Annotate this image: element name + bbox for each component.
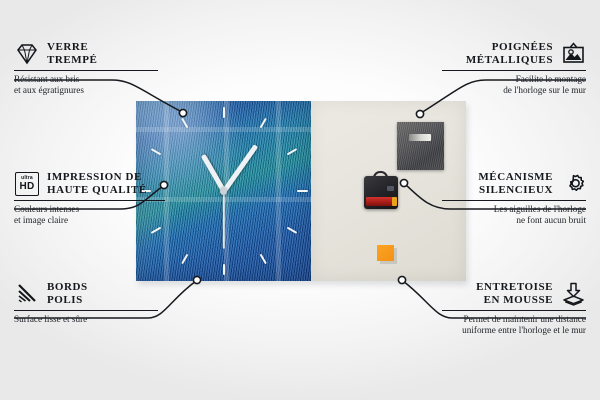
callout-header: ENTRETOISE EN MOUSSE [442,281,586,307]
callout-subtitle-line2: et image claire [14,215,165,226]
callout-title: ENTRETOISE EN MOUSSE [476,281,553,307]
foam-spacer [377,245,394,261]
callout-mecanisme-silencieux: MÉCANISME SILENCIEUX Les aiguilles de l'… [442,171,586,226]
grid-line [136,127,311,132]
foam-spacer-arrow-icon [560,281,586,307]
mechanism-body [364,176,398,209]
callout-divider [442,310,586,311]
clock-tick [223,107,225,118]
battery [366,197,393,206]
callout-poignees-metalliques: POIGNÉES MÉTALLIQUES Facilite le montage… [442,41,586,96]
callout-title: POIGNÉES MÉTALLIQUES [466,41,553,67]
callout-subtitle-line1: Permet de maintenir une distance [442,314,586,325]
callout-divider [442,70,586,71]
ultra-hd-icon: ultra HD [14,171,40,197]
callout-divider [14,200,165,201]
callout-title: MÉCANISME SILENCIEUX [478,171,553,197]
mechanism-detail [387,186,394,191]
callout-divider [14,310,158,311]
clock-tick [297,190,308,192]
clock-tick [181,254,188,265]
callout-impression-haute-qualite: ultra HD IMPRESSION DE HAUTE QUALITÉ Cou… [14,171,165,226]
clock-tick [286,148,297,155]
callout-entretoise-en-mousse: ENTRETOISE EN MOUSSE Permet de maintenir… [442,281,586,336]
callout-subtitle-line1: Facilite le montage [442,74,586,85]
clock-center-cap [220,188,227,195]
callout-bords-polis: BORDS POLIS Surface lisse et sûre [14,281,158,325]
clock-tick [259,254,266,265]
callout-subtitle-line2: de l'horloge sur le mur [442,85,586,96]
callout-divider [14,70,158,71]
ultra-hd-main-text: HD [19,182,34,192]
callout-subtitle-line1: Résistant aux bris [14,74,158,85]
clock-second-hand [223,191,225,249]
callout-subtitle-line1: Couleurs intenses [14,204,165,215]
picture-frame-hanger-icon [560,41,586,67]
product-image-group [136,101,466,281]
diamond-icon [14,41,40,67]
callout-title: IMPRESSION DE HAUTE QUALITÉ [47,171,147,197]
callout-subtitle-line2: uniforme entre l'horloge et le mur [442,325,586,336]
clock-tick [223,264,225,275]
metal-hanger-plate [397,122,444,170]
callout-header: BORDS POLIS [14,281,158,307]
clock-tick [150,227,161,234]
hanger-slot [409,134,431,141]
callout-header: VERRE TREMPÉ [14,41,158,67]
infographic-stage: VERRE TREMPÉ Résistant aux bris et aux é… [0,0,600,400]
callout-subtitle-line1: Surface lisse et sûre [14,314,158,325]
callout-subtitle-line2: ne font aucun bruit [442,215,586,226]
callout-header: POIGNÉES MÉTALLIQUES [442,41,586,67]
battery-terminal [392,197,397,206]
callout-subtitle-line1: Les aiguilles de l'horloge [442,204,586,215]
callout-subtitle-line2: et aux égratignures [14,85,158,96]
callout-header: MÉCANISME SILENCIEUX [442,171,586,197]
gear-icon [560,171,586,197]
callout-header: ultra HD IMPRESSION DE HAUTE QUALITÉ [14,171,165,197]
callout-title: BORDS POLIS [47,281,88,307]
clock-tick [286,227,297,234]
diagonal-lines-icon [14,281,40,307]
callout-divider [442,200,586,201]
callout-verre-trempe: VERRE TREMPÉ Résistant aux bris et aux é… [14,41,158,96]
quartz-mechanism [364,171,398,209]
callout-title: VERRE TREMPÉ [47,41,97,67]
